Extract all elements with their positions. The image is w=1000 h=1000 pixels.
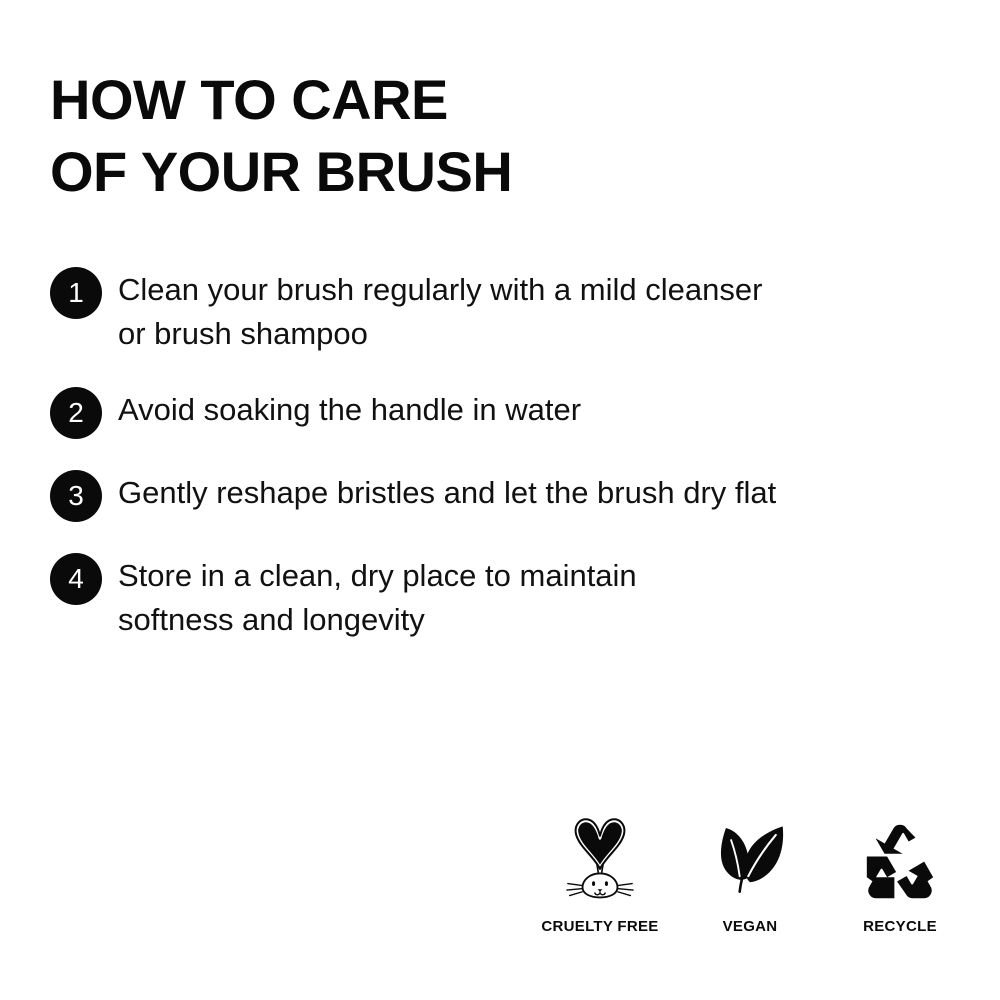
list-item: 4 Store in a clean, dry place to maintai… xyxy=(50,552,960,642)
list-item: 2 Avoid soaking the handle in water xyxy=(50,386,960,439)
list-item: 3 Gently reshape bristles and let the br… xyxy=(50,469,960,522)
step-number-badge: 4 xyxy=(50,553,102,605)
badge-cruelty-free: CRUELTY FREE xyxy=(530,810,670,935)
badge-label: RECYCLE xyxy=(863,918,937,935)
step-text: Clean your brush regularly with a mild c… xyxy=(118,266,960,356)
step-text: Gently reshape bristles and let the brus… xyxy=(118,469,960,515)
step-number-badge: 1 xyxy=(50,267,102,319)
recycle-icon xyxy=(858,810,942,902)
badge-recycle: RECYCLE xyxy=(830,810,970,935)
care-steps-list: 1 Clean your brush regularly with a mild… xyxy=(50,266,960,642)
step-text: Avoid soaking the handle in water xyxy=(118,386,960,432)
step-number-badge: 3 xyxy=(50,470,102,522)
badge-vegan: VEGAN xyxy=(680,810,820,935)
list-item: 1 Clean your brush regularly with a mild… xyxy=(50,266,960,356)
page-title-line-2: OF YOUR BRUSH xyxy=(50,136,950,208)
care-instructions-card: HOW TO CARE OF YOUR BRUSH 1 Clean your b… xyxy=(0,0,1000,1000)
bunny-heart-icon xyxy=(554,810,646,902)
certification-badges: CRUELTY FREE VEGAN xyxy=(530,810,970,935)
leaves-icon xyxy=(707,810,793,902)
step-text: Store in a clean, dry place to maintain … xyxy=(118,552,960,642)
badge-label: VEGAN xyxy=(723,918,778,935)
badge-label: CRUELTY FREE xyxy=(541,918,658,935)
page-title: HOW TO CARE OF YOUR BRUSH xyxy=(50,64,950,208)
step-number-badge: 2 xyxy=(50,387,102,439)
page-title-line-1: HOW TO CARE xyxy=(50,64,950,136)
